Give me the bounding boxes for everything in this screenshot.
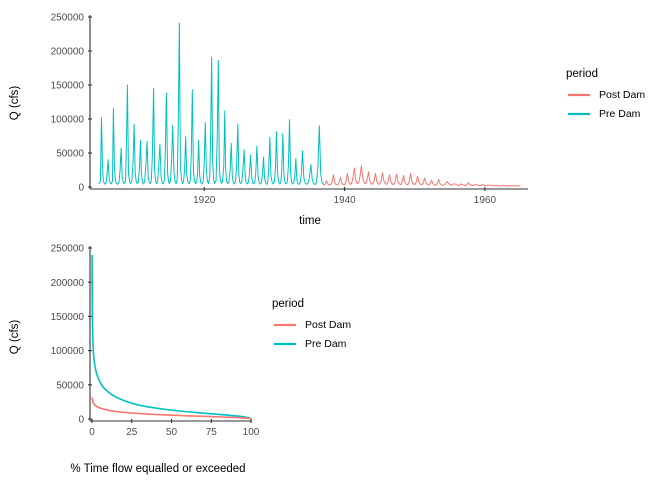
y-tick-label: 50000 bbox=[56, 380, 84, 391]
x-tick-label: 1920 bbox=[193, 195, 216, 206]
series-line-pre-dam bbox=[92, 256, 251, 419]
legend-item-post-dam[interactable]: Post Dam bbox=[272, 319, 351, 331]
y-tick-label: 250000 bbox=[51, 13, 85, 24]
fdc-x-axis-title: % Time flow equalled or exceeded bbox=[70, 463, 245, 475]
legend-key-pre-dam bbox=[566, 108, 592, 120]
legend-label-pre-dam: Pre Dam bbox=[305, 338, 346, 350]
x-tick-label: 25 bbox=[126, 427, 138, 438]
legend-item-post-dam[interactable]: Post Dam bbox=[566, 89, 645, 101]
series-line-post-dam bbox=[324, 166, 520, 186]
legend-label-post-dam: Post Dam bbox=[305, 319, 351, 331]
legend-title-flow-duration: period bbox=[272, 298, 351, 310]
legend-key-post-dam bbox=[566, 89, 592, 101]
y-tick-label: 250000 bbox=[51, 244, 85, 255]
series-line-pre-dam bbox=[99, 23, 324, 185]
legend-label-pre-dam: Pre Dam bbox=[599, 108, 640, 120]
hydrograph-series-group bbox=[99, 23, 520, 186]
panel-hydrograph: Q (cfs) time 050000100000150000200000250… bbox=[0, 0, 672, 232]
legend-flow-duration: period Post Dam Pre Dam bbox=[272, 298, 351, 350]
legend-label-post-dam: Post Dam bbox=[599, 89, 645, 101]
y-tick-label: 150000 bbox=[51, 312, 85, 323]
x-tick-label: 1960 bbox=[474, 195, 497, 206]
y-tick-label: 50000 bbox=[56, 149, 84, 160]
legend-key-pre-dam bbox=[272, 338, 298, 350]
fdc-x-tick-group: 0255075100 bbox=[89, 419, 260, 438]
figure-root: Q (cfs) time 050000100000150000200000250… bbox=[0, 0, 672, 480]
flow-duration-svg: Q (cfs) % Time flow equalled or exceeded… bbox=[0, 232, 672, 480]
hydrograph-x-axis-title: time bbox=[299, 215, 321, 227]
fdc-y-tick-group: 050000100000150000200000250000 bbox=[51, 244, 92, 426]
x-tick-label: 1940 bbox=[333, 195, 356, 206]
hydrograph-x-tick-group: 192019401960 bbox=[193, 187, 496, 206]
y-tick-label: 200000 bbox=[51, 278, 85, 289]
y-tick-label: 150000 bbox=[51, 81, 85, 92]
y-tick-label: 0 bbox=[78, 415, 84, 426]
x-tick-label: 0 bbox=[89, 427, 95, 438]
legend-item-pre-dam[interactable]: Pre Dam bbox=[566, 108, 645, 120]
y-tick-label: 100000 bbox=[51, 346, 85, 357]
legend-hydrograph: period Post Dam Pre Dam bbox=[566, 68, 645, 120]
y-tick-label: 200000 bbox=[51, 47, 85, 58]
x-tick-label: 100 bbox=[243, 427, 260, 438]
panel-flow-duration: Q (cfs) % Time flow equalled or exceeded… bbox=[0, 232, 672, 480]
hydrograph-y-tick-group: 050000100000150000200000250000 bbox=[51, 13, 92, 194]
fdc-y-axis-title: Q (cfs) bbox=[9, 320, 21, 355]
legend-item-pre-dam[interactable]: Pre Dam bbox=[272, 338, 351, 350]
x-tick-label: 50 bbox=[166, 427, 178, 438]
y-tick-label: 100000 bbox=[51, 115, 85, 126]
legend-title-hydrograph: period bbox=[566, 68, 645, 80]
hydrograph-y-axis-title: Q (cfs) bbox=[9, 86, 21, 121]
y-tick-label: 0 bbox=[78, 183, 84, 194]
x-tick-label: 75 bbox=[206, 427, 218, 438]
fdc-series-group bbox=[92, 256, 251, 419]
legend-key-post-dam bbox=[272, 319, 298, 331]
